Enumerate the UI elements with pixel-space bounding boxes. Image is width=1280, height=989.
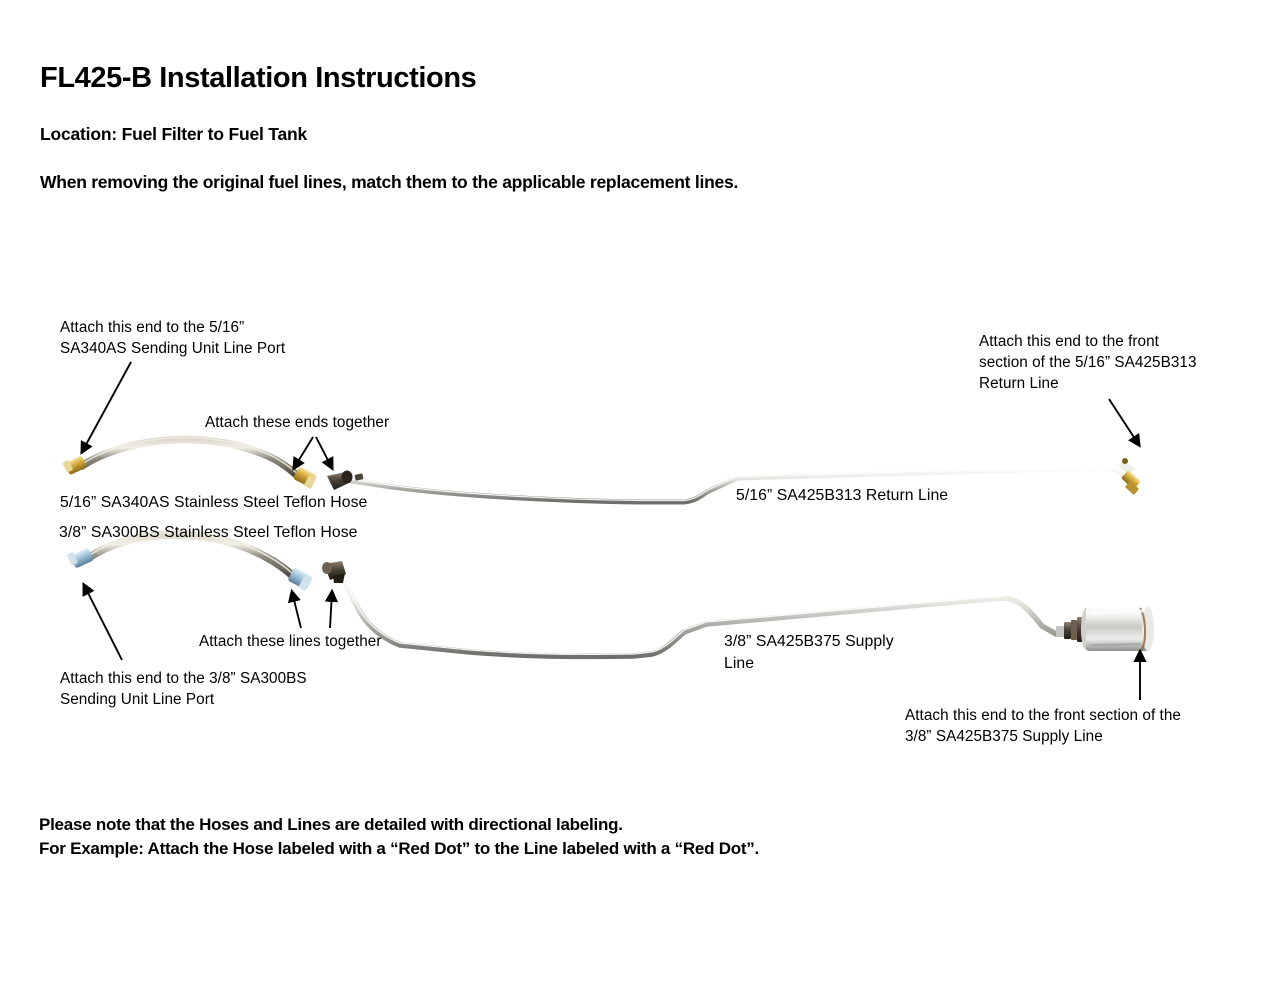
arrow-lower-left	[84, 585, 122, 660]
label-return-line: 5/16” SA425B313 Return Line	[736, 485, 948, 507]
hose-38-left-fitting	[67, 547, 94, 568]
callout-upper-left: Attach this end to the 5/16” SA340AS Sen…	[60, 317, 285, 359]
arrow-upper-mid-left	[294, 437, 313, 468]
fuel-filter-canister	[1056, 607, 1154, 651]
label-supply-line: 3/8” SA425B375 Supply Line	[724, 631, 894, 675]
return-line-right-fitting	[1118, 458, 1141, 495]
label-hose-516: 5/16” SA340AS Stainless Steel Teflon Hos…	[60, 492, 367, 514]
callout-lower-right: Attach this end to the front section of …	[905, 705, 1181, 747]
installation-instructions-page: FL425-B Installation Instructions Locati…	[0, 0, 1280, 989]
arrow-lower-mid-right	[330, 592, 332, 628]
hose-38-right-fitting	[287, 567, 313, 591]
callout-lower-mid: Attach these lines together	[199, 631, 381, 652]
hose-516-left-fitting	[62, 455, 87, 475]
return-line-sa425b313	[327, 458, 1141, 502]
supply-line-left-fitting	[322, 561, 346, 583]
arrow-upper-left	[82, 362, 131, 452]
hose-516-right-fitting	[293, 466, 317, 489]
arrow-upper-right	[1109, 399, 1139, 445]
arrow-upper-mid-right	[316, 437, 332, 468]
location-subtitle: Location: Fuel Filter to Fuel Tank	[40, 124, 307, 145]
callout-upper-right: Attach this end to the front section of …	[979, 331, 1197, 394]
label-hose-38: 3/8” SA300BS Stainless Steel Teflon Hose	[59, 522, 358, 544]
hose-516-sa340as	[62, 428, 317, 489]
page-title: FL425-B Installation Instructions	[40, 62, 476, 95]
callout-lower-left: Attach this end to the 3/8” SA300BS Send…	[60, 668, 307, 710]
footer-note-2: For Example: Attach the Hose labeled wit…	[39, 839, 759, 859]
footer-note-1: Please note that the Hoses and Lines are…	[39, 815, 623, 835]
arrow-lower-mid-left	[292, 592, 301, 628]
callout-upper-mid: Attach these ends together	[205, 412, 389, 433]
return-line-left-fitting	[327, 471, 364, 491]
instruction-line: When removing the original fuel lines, m…	[40, 172, 738, 193]
